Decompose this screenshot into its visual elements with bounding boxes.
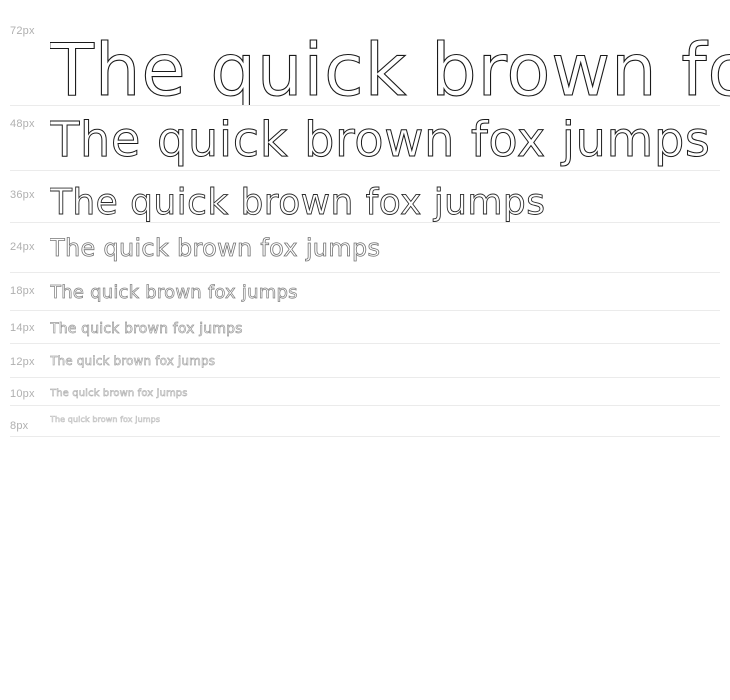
- sample-text-clip: The quick brown fox jumps: [50, 105, 730, 170]
- sample-text-clip: The quick brown fox jumps: [50, 222, 730, 272]
- font-specimen-preview: 72pxThe quick brown fox jumps48pxThe qui…: [0, 0, 730, 700]
- sample-text-clip: The quick brown fox jumps: [50, 377, 730, 405]
- size-row: 72pxThe quick brown fox jumps: [0, 0, 730, 105]
- sample-text: The quick brown fox jumps: [50, 282, 298, 303]
- row-separator: [10, 222, 720, 223]
- sample-text-clip: The quick brown fox jumps: [50, 170, 730, 222]
- sample-text-svg: The quick brown fox jumps: [50, 222, 730, 272]
- sample-text-svg: The quick brown fox jumps: [50, 105, 730, 170]
- row-separator: [10, 272, 720, 273]
- size-label: 8px: [10, 421, 28, 432]
- sample-text: The quick brown fox jumps: [50, 321, 243, 337]
- sample-text: The quick brown fox jumps: [50, 234, 380, 262]
- size-row: 48pxThe quick brown fox jumps: [0, 105, 730, 170]
- size-label: 36px: [10, 190, 35, 201]
- sample-text: The quick brown fox jumps: [50, 112, 711, 168]
- size-row: 18pxThe quick brown fox jumps: [0, 272, 730, 310]
- sample-text-svg: The quick brown fox jumps: [50, 405, 730, 436]
- sample-text-clip: The quick brown fox jumps: [50, 343, 730, 377]
- size-label: 12px: [10, 357, 35, 368]
- sample-text: The quick brown fox jumps: [50, 388, 188, 399]
- sample-text: The quick brown fox jumps: [50, 28, 730, 105]
- sample-text: The quick brown fox jumps: [50, 182, 545, 222]
- size-label: 72px: [10, 26, 35, 37]
- sample-text-clip: The quick brown fox jumps: [50, 0, 730, 105]
- sample-text-svg: The quick brown fox jumps: [50, 272, 730, 310]
- size-row: 10pxThe quick brown fox jumps: [0, 377, 730, 405]
- size-row: 12pxThe quick brown fox jumps: [0, 343, 730, 377]
- sample-text-svg: The quick brown fox jumps: [50, 310, 730, 343]
- size-label: 10px: [10, 389, 35, 400]
- sample-text-clip: The quick brown fox jumps: [50, 272, 730, 310]
- size-row: 14pxThe quick brown fox jumps: [0, 310, 730, 343]
- sample-text-clip: The quick brown fox jumps: [50, 310, 730, 343]
- sample-text-svg: The quick brown fox jumps: [50, 377, 730, 405]
- sample-text-svg: The quick brown fox jumps: [50, 170, 730, 222]
- sample-text-clip: The quick brown fox jumps: [50, 405, 730, 436]
- row-separator: [10, 436, 720, 437]
- size-label: 14px: [10, 323, 35, 334]
- sample-text: The quick brown fox jumps: [50, 354, 215, 368]
- row-separator: [10, 105, 720, 106]
- row-separator: [10, 170, 720, 171]
- size-label: 18px: [10, 286, 35, 297]
- size-label: 48px: [10, 119, 35, 130]
- size-row: 8pxThe quick brown fox jumps: [0, 405, 730, 436]
- sample-text-svg: The quick brown fox jumps: [50, 343, 730, 377]
- row-separator: [10, 405, 720, 406]
- sample-text: The quick brown fox jumps: [50, 415, 160, 424]
- row-separator: [10, 343, 720, 344]
- row-separator: [10, 377, 720, 378]
- row-separator: [10, 310, 720, 311]
- size-row: 36pxThe quick brown fox jumps: [0, 170, 730, 222]
- size-row: 24pxThe quick brown fox jumps: [0, 222, 730, 272]
- sample-text-svg: The quick brown fox jumps: [50, 0, 730, 105]
- size-label: 24px: [10, 242, 35, 253]
